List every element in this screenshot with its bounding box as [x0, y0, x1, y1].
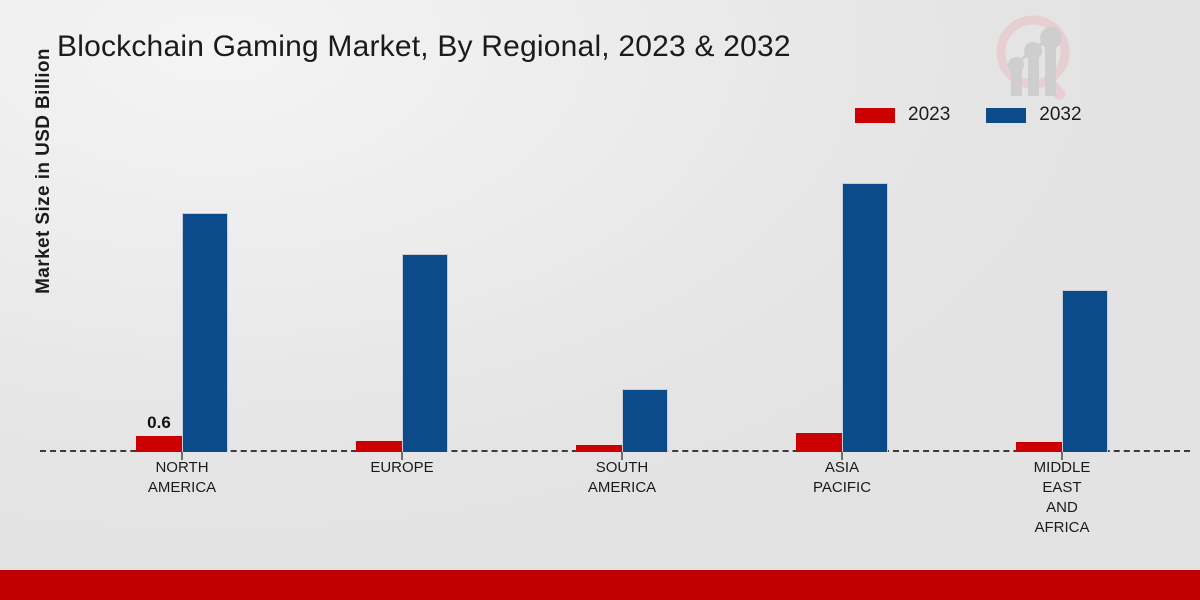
legend-swatch-red-icon	[855, 108, 895, 123]
legend-swatch-blue-icon	[986, 108, 1026, 123]
x-axis-category-label: SOUTHAMERICA	[534, 458, 710, 498]
chart-title: Blockchain Gaming Market, By Regional, 2…	[57, 30, 791, 64]
bar-group: EUROPE	[331, 150, 473, 452]
bar-2032[interactable]	[1062, 290, 1108, 452]
bar-group: SOUTHAMERICA	[551, 150, 693, 452]
legend-item-2023[interactable]: 2023	[855, 104, 950, 126]
footer-stripe	[0, 570, 1200, 600]
bar-2032[interactable]	[182, 213, 228, 452]
x-axis-category-label: NORTHAMERICA	[94, 458, 270, 498]
bar-group: MIDDLEEASTANDAFRICA	[991, 150, 1133, 452]
bar-2023[interactable]	[576, 445, 622, 452]
plot-area: 0.6NORTHAMERICAEUROPESOUTHAMERICAASIAPAC…	[40, 150, 1190, 452]
legend-label-2023: 2023	[908, 104, 950, 126]
bar-group: ASIAPACIFIC	[771, 150, 913, 452]
bar-2032[interactable]	[842, 183, 888, 452]
legend-item-2032[interactable]: 2032	[986, 104, 1081, 126]
magnifier-bar-chart-logo-icon	[985, 8, 1090, 108]
bar-2023[interactable]	[356, 441, 402, 452]
x-axis-category-label: EUROPE	[314, 458, 490, 478]
bar-group: 0.6NORTHAMERICA	[111, 150, 253, 452]
chart-legend: 2023 2032	[855, 104, 1082, 126]
chart-page: Blockchain Gaming Market, By Regional, 2…	[0, 0, 1200, 600]
bar-2032[interactable]	[402, 254, 448, 452]
bar-2023[interactable]	[1016, 442, 1062, 452]
x-axis-category-label: MIDDLEEASTANDAFRICA	[974, 458, 1150, 538]
legend-label-2032: 2032	[1039, 104, 1081, 126]
bar-2023[interactable]	[796, 433, 842, 452]
bar-2032[interactable]	[622, 389, 668, 452]
x-axis-category-label: ASIAPACIFIC	[754, 458, 930, 498]
bar-2023[interactable]	[136, 436, 182, 452]
